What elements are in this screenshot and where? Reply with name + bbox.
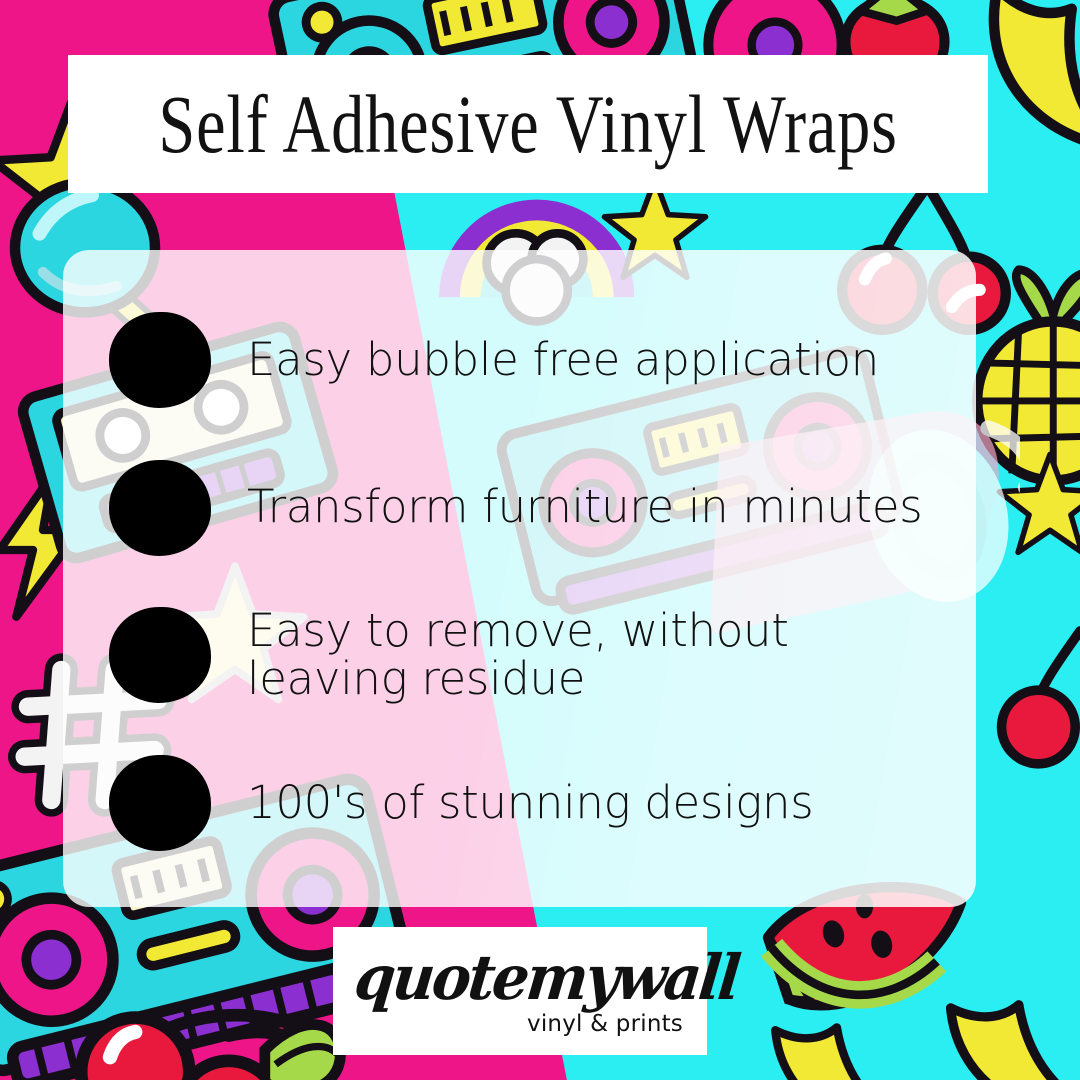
list-item: Easy to remove, without leaving residue — [109, 595, 936, 715]
brand-tagline: vinyl & prints — [527, 1011, 683, 1037]
poster-canvas: Self Adhesive Vinyl Wraps Easy bubble fr… — [0, 0, 1080, 1080]
bullet-dot-icon — [109, 460, 211, 556]
page-title: Self Adhesive Vinyl Wraps — [158, 83, 897, 166]
feature-text: Easy to remove, without leaving residue — [247, 607, 936, 704]
banana-icon — [755, 1005, 930, 1080]
feature-text: Transform furniture in minutes — [247, 483, 922, 532]
logo-lockup: quotemywall vinyl & prints — [355, 943, 685, 1039]
list-item: 100's of stunning designs — [109, 743, 936, 863]
banana-icon — [930, 980, 1080, 1080]
list-item: Transform furniture in minutes — [109, 448, 936, 568]
feature-text: 100's of stunning designs — [247, 779, 813, 828]
brand-logo-banner: quotemywall vinyl & prints — [333, 927, 707, 1055]
bullet-dot-icon — [109, 607, 211, 703]
bullet-dot-icon — [109, 755, 211, 851]
brand-wordmark: quotemywall — [351, 941, 741, 1014]
list-item: Easy bubble free application — [109, 300, 936, 420]
feature-text: Easy bubble free application — [247, 336, 879, 385]
bullet-dot-icon — [109, 312, 211, 408]
cherries-icon — [55, 960, 345, 1080]
title-banner: Self Adhesive Vinyl Wraps — [68, 55, 988, 193]
features-card: Easy bubble free application Transform f… — [63, 250, 976, 907]
